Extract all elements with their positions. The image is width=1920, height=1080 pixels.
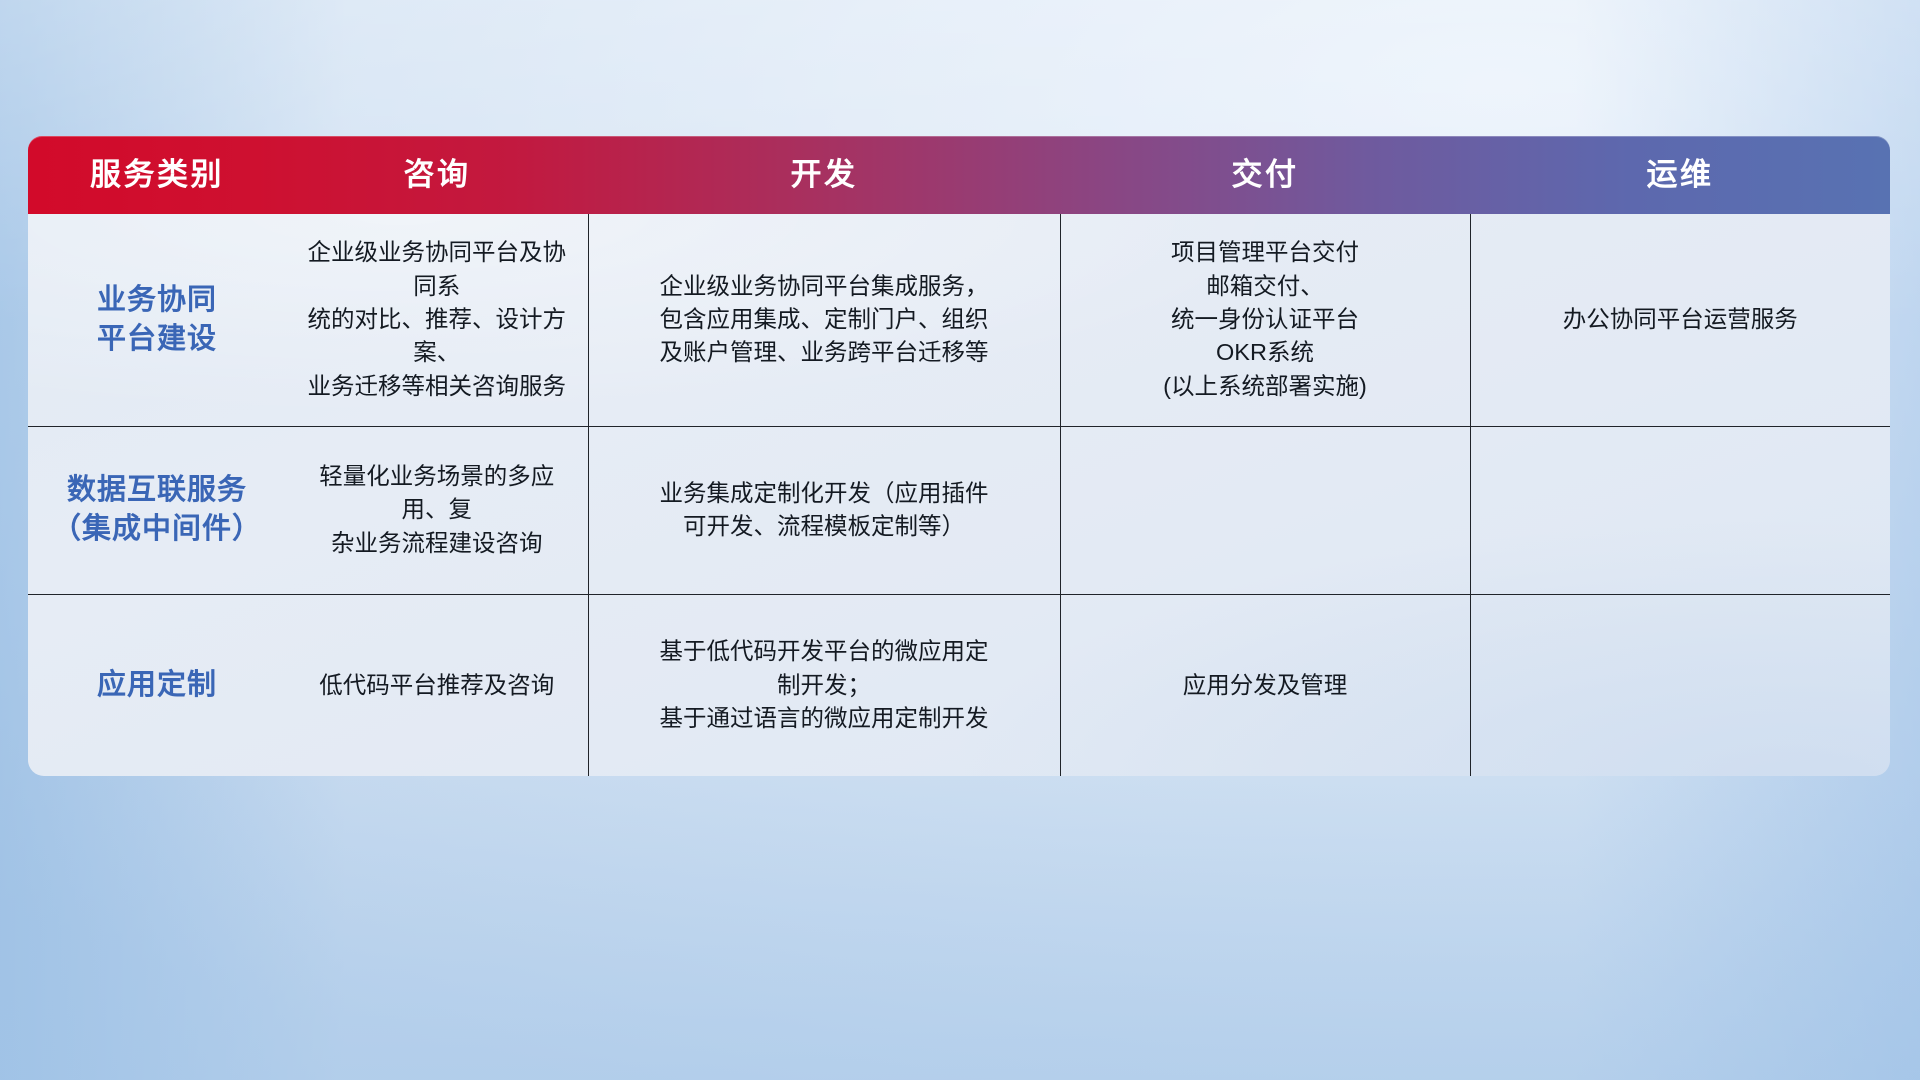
cell-row2-consulting: 轻量化业务场景的多应用、复 杂业务流程建设咨询 — [286, 426, 588, 594]
cell-row1-consulting: 企业级业务协同平台及协同系 统的对比、推荐、设计方案、 业务迁移等相关咨询服务 — [286, 214, 588, 426]
cell-row1-development: 企业级业务协同平台集成服务， 包含应用集成、定制门户、组织 及账户管理、业务跨平… — [588, 214, 1060, 426]
column-header-service-category: 服务类别 — [28, 136, 286, 214]
cell-row1-operations: 办公协同平台运营服务 — [1470, 214, 1890, 426]
cell-row3-operations — [1470, 594, 1890, 776]
cell-row2-delivery — [1060, 426, 1470, 594]
service-matrix-table: 业务协同 平台建设 企业级业务协同平台及协同系 统的对比、推荐、设计方案、 业务… — [28, 214, 1890, 776]
table-body: 业务协同 平台建设 企业级业务协同平台及协同系 统的对比、推荐、设计方案、 业务… — [28, 214, 1890, 776]
cell-row2-development: 业务集成定制化开发（应用插件 可开发、流程模板定制等） — [588, 426, 1060, 594]
cell-row1-delivery: 项目管理平台交付 邮箱交付、 统一身份认证平台 OKR系统 (以上系统部署实施) — [1060, 214, 1470, 426]
row-label-data-interconnect: 数据互联服务 （集成中间件） — [28, 426, 286, 594]
table-header-bar: 服务类别 咨询 开发 交付 运维 — [28, 136, 1890, 214]
cell-row3-delivery: 应用分发及管理 — [1060, 594, 1470, 776]
cell-row3-development: 基于低代码开发平台的微应用定 制开发； 基于通过语言的微应用定制开发 — [588, 594, 1060, 776]
table-row: 业务协同 平台建设 企业级业务协同平台及协同系 统的对比、推荐、设计方案、 业务… — [28, 214, 1890, 426]
column-header-consulting: 咨询 — [286, 136, 588, 214]
column-header-development: 开发 — [588, 136, 1060, 214]
table-row: 数据互联服务 （集成中间件） 轻量化业务场景的多应用、复 杂业务流程建设咨询 业… — [28, 426, 1890, 594]
table-row: 应用定制 低代码平台推荐及咨询 基于低代码开发平台的微应用定 制开发； 基于通过… — [28, 594, 1890, 776]
cell-row2-operations — [1470, 426, 1890, 594]
row-label-app-customization: 应用定制 — [28, 594, 286, 776]
row-label-business-collaboration: 业务协同 平台建设 — [28, 214, 286, 426]
column-header-delivery: 交付 — [1060, 136, 1470, 214]
column-header-operations: 运维 — [1470, 136, 1890, 214]
cell-row3-consulting: 低代码平台推荐及咨询 — [286, 594, 588, 776]
